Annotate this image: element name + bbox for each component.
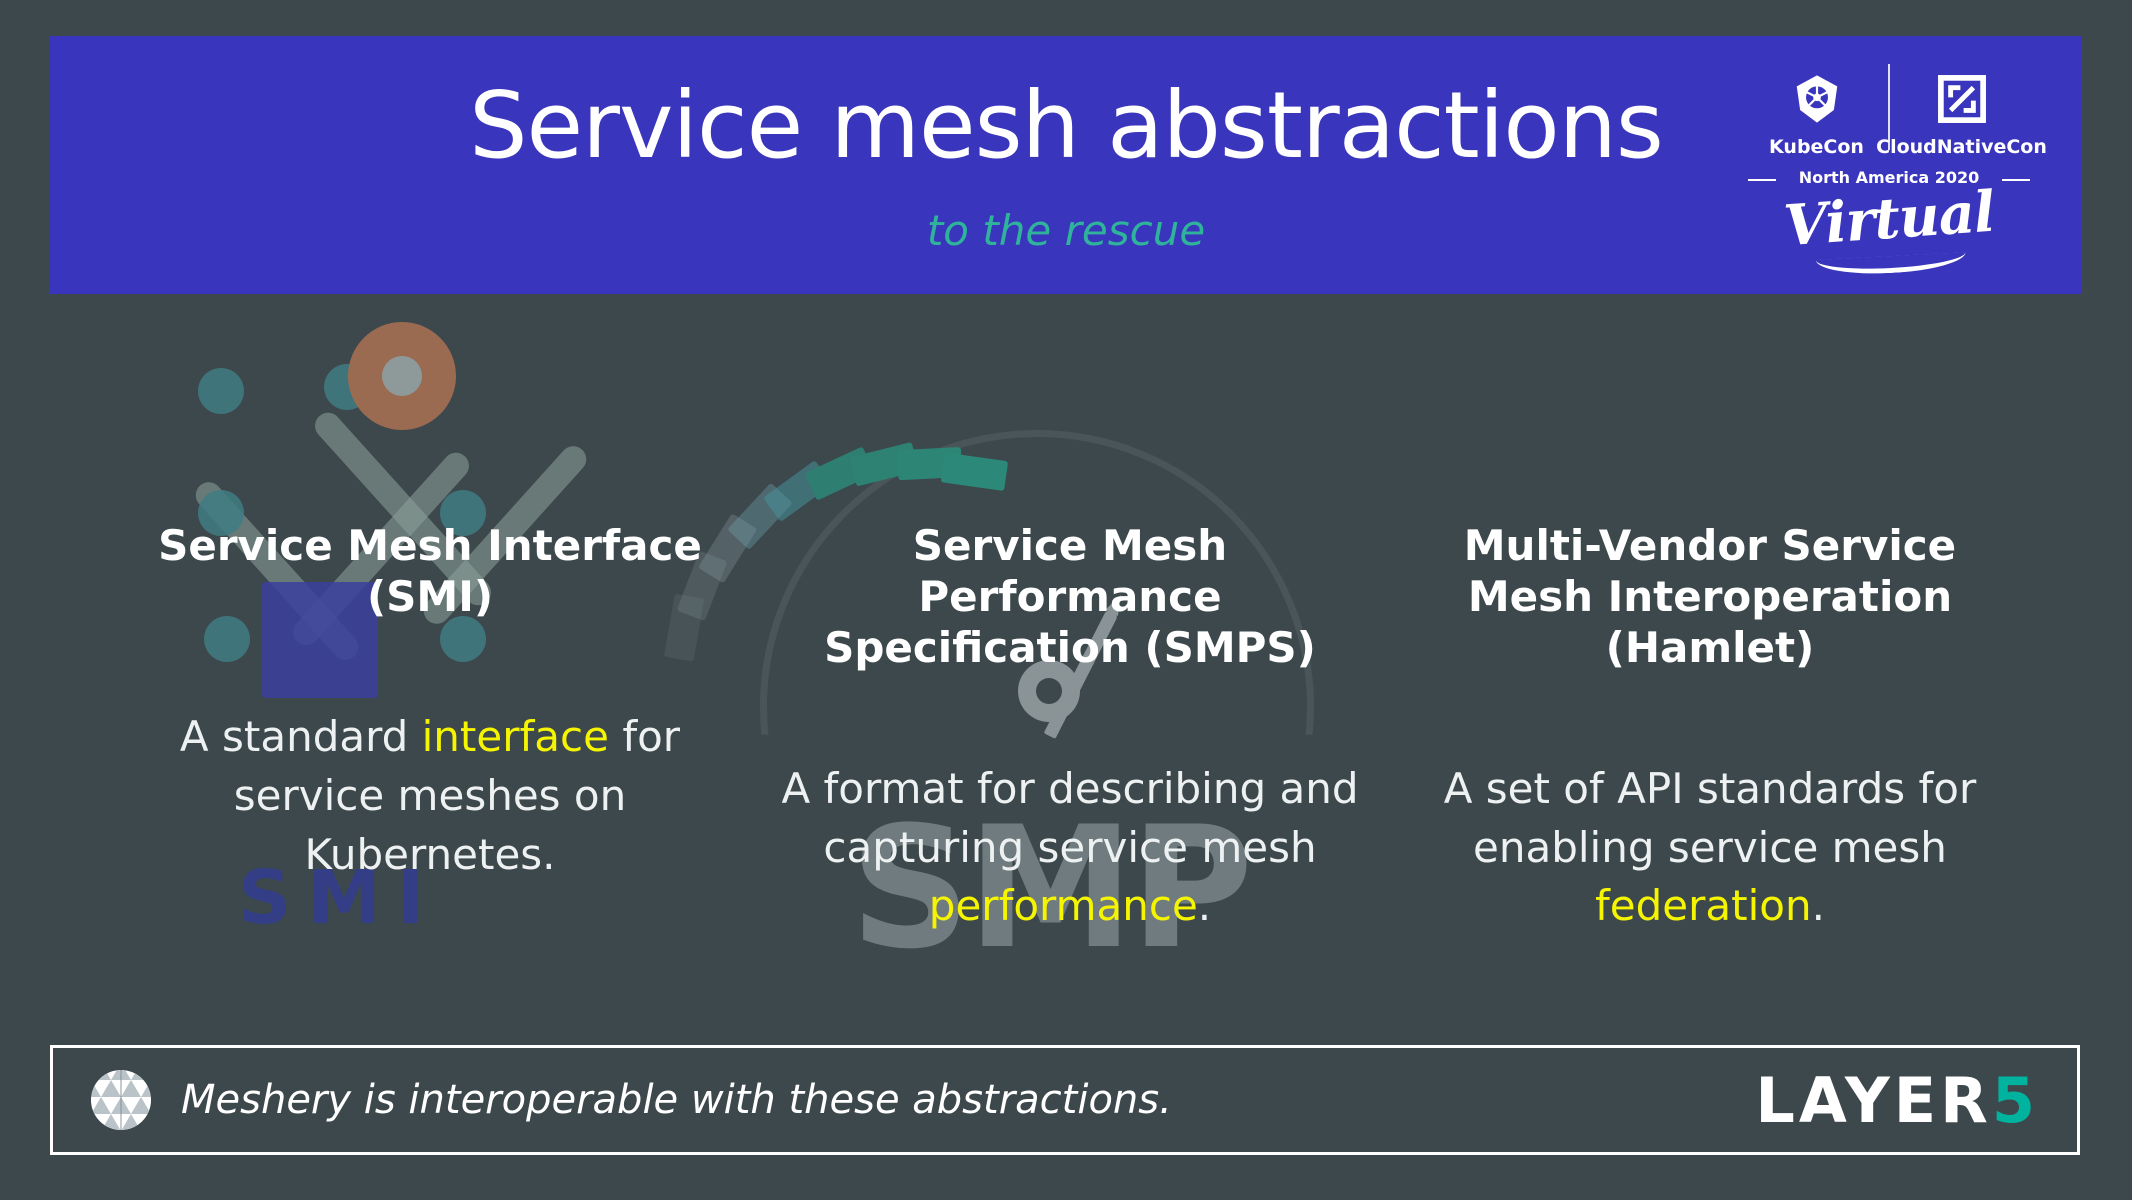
logo-divider [1888,64,1890,150]
body-text-after: . [1812,881,1825,930]
layer5-logo: LAYER5 [1755,1064,2039,1137]
column-smps: Service Mesh Performance Specification (… [750,520,1390,936]
body-text-before: A set of API standards for enabling serv… [1444,764,1977,872]
meshery-logo-icon [91,1070,151,1130]
column-body: A standard interface for service meshes … [138,708,722,884]
column-heading: Service Mesh Interface (SMI) [138,520,722,622]
column-heading: Service Mesh Performance Specification (… [778,520,1362,674]
body-highlight: federation [1595,881,1812,930]
column-body: A set of API standards for enabling serv… [1418,760,2002,936]
virtual-underline-swoosh [1816,252,1967,277]
footer-bar: Meshery is interoperable with these abst… [50,1045,2080,1155]
header-banner: Service mesh abstractions to the rescue [50,36,2082,294]
layer5-accent-digit: 5 [1992,1064,2039,1137]
body-highlight: performance [929,881,1198,930]
abstractions-columns: Service Mesh Interface (SMI) A standard … [110,520,2030,936]
cloudnativecon-icon [1936,68,1988,130]
cloudnativecon-label: CloudNativeCon [1876,136,2047,158]
slide-root: SMI SMP Service mesh abstractions to the… [0,0,2132,1200]
layer5-wordmark: LAYER [1755,1064,1992,1137]
body-text-before: A format for describing and capturing se… [781,764,1358,872]
body-text-before: A standard [180,712,422,761]
footer-message: Meshery is interoperable with these abst… [181,1077,1172,1123]
column-body: A format for describing and capturing se… [778,760,1362,936]
kubecon-logo: KubeCon CloudNativeCon North Americ [1744,50,2034,270]
logo-virtual-label: Virtual [1742,176,2036,262]
column-smi: Service Mesh Interface (SMI) A standard … [110,520,750,936]
kubernetes-helm-icon [1790,68,1844,130]
kubecon-label: KubeCon [1769,136,1864,158]
body-text-after: . [1198,881,1211,930]
body-highlight: interface [422,712,609,761]
column-heading: Multi-Vendor Service Mesh Interoperation… [1418,520,2002,674]
column-hamlet: Multi-Vendor Service Mesh Interoperation… [1390,520,2030,936]
